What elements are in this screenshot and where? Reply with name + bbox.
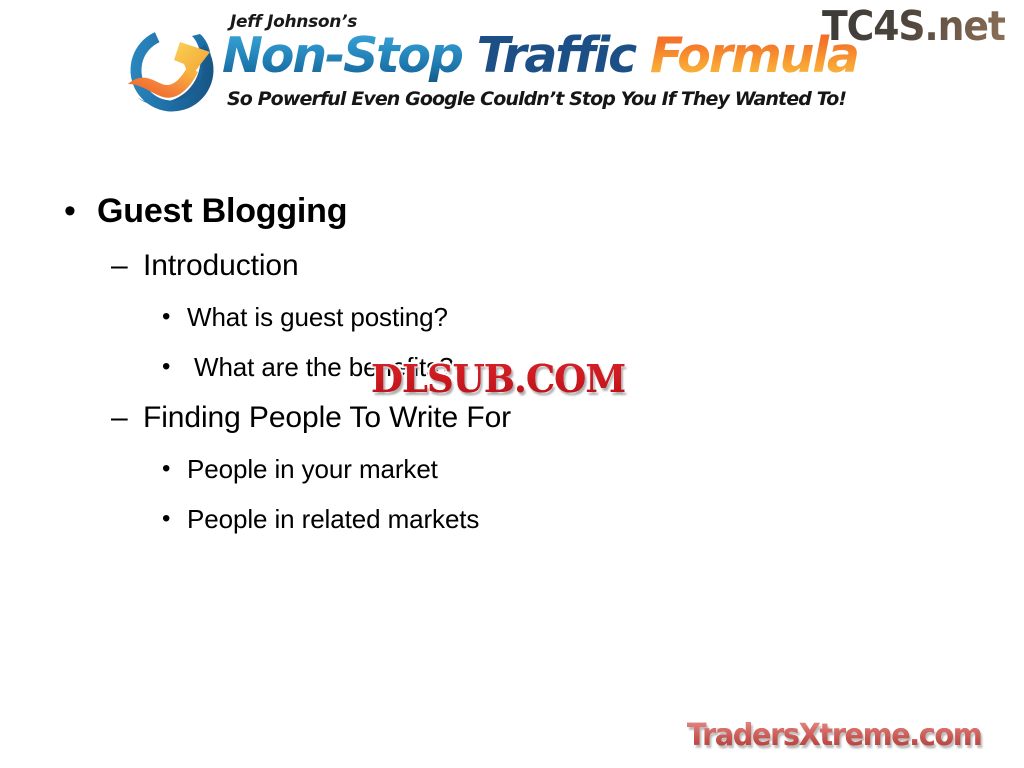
logo-title-traffic — [462, 27, 477, 84]
logo-tagline: So Powerful Even Google Couldn’t Stop Yo… — [227, 88, 846, 110]
bullet-level1-guest-blogging: • Guest Blogging — [0, 186, 1024, 242]
slide-canvas: Jeff Johnson’s Non-Stop Traffic Formula … — [0, 0, 1024, 768]
bullet-level3-what-is-guest-posting: • What is guest posting? — [0, 294, 1024, 344]
watermark-dlsub: DLSUB.COM — [371, 356, 625, 401]
bullet-marker: • — [64, 186, 76, 236]
bullet-marker: – — [111, 242, 128, 290]
watermark-tradersxtreme: TradersXtreme.com — [687, 718, 981, 753]
logo-text-block: Jeff Johnson’s Non-Stop Traffic Formula … — [222, 4, 782, 122]
bullet-text: Guest Blogging — [97, 192, 347, 230]
bullet-marker: • — [162, 446, 170, 492]
logo-title-nonstop: Non-Stop — [222, 27, 462, 84]
bullet-text: People in your market — [187, 454, 438, 484]
logo-title-space2 — [635, 27, 650, 84]
bullet-marker: – — [111, 394, 128, 442]
swoosh-arrow-icon — [118, 22, 226, 118]
bullet-level3-people-in-related-markets: • People in related markets — [0, 496, 1024, 546]
logo-title-traffic-word: Traffic — [477, 27, 635, 84]
watermark-tc4s: TC4S.net — [822, 2, 1005, 50]
bullet-text: Introduction — [143, 249, 299, 282]
bullet-marker: • — [162, 496, 170, 542]
bullet-level2-introduction: – Introduction — [0, 242, 1024, 294]
bullet-text: Finding People To Write For — [143, 401, 511, 434]
bullet-text: What is guest posting? — [187, 302, 448, 332]
bullet-text: People in related markets — [187, 504, 479, 534]
bullet-level2-finding-people-to-write-for: – Finding People To Write For — [0, 394, 1024, 446]
bullet-marker: • — [162, 294, 170, 340]
bullet-marker: • — [162, 344, 170, 390]
brand-logo: Jeff Johnson’s Non-Stop Traffic Formula … — [118, 4, 778, 122]
logo-title: Non-Stop Traffic Formula — [222, 28, 858, 84]
bullet-level3-people-in-your-market: • People in your market — [0, 446, 1024, 496]
